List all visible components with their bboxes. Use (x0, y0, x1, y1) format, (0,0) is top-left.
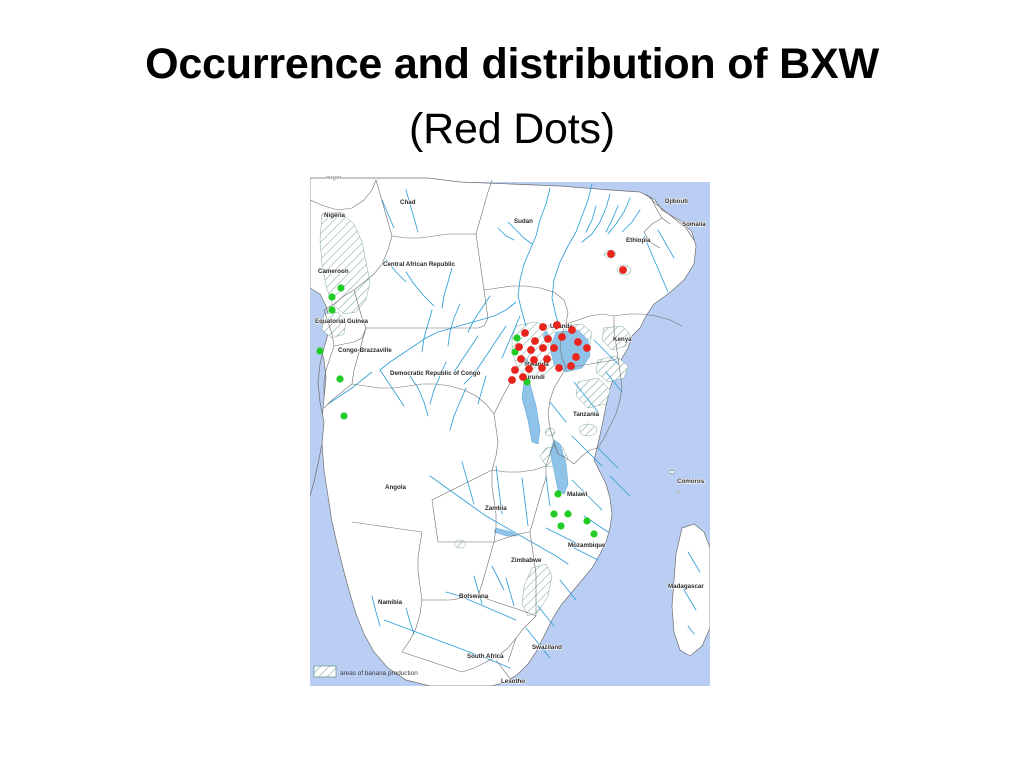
bxw-occurrence-dot (553, 321, 561, 329)
title-line-secondary: (Red Dots) (62, 97, 962, 162)
country-label: Namibia (378, 599, 403, 606)
bxw-occurrence-dot (539, 323, 547, 331)
bxw-occurrence-dot (508, 376, 516, 384)
map-svg: NigerNigeriaChadSudanDjiboutiSomaliaEthi… (310, 176, 710, 686)
country-label: Zimbabwe (511, 557, 542, 564)
bxw-occurrence-dot (527, 346, 535, 354)
country-label: Equatorial Guinea (315, 318, 369, 325)
country-label: Ethiopia (626, 237, 651, 244)
other-dot (557, 522, 564, 529)
country-label: Congo-Brazzaville (338, 347, 392, 354)
bxw-occurrence-dot (511, 366, 519, 374)
country-label: Somalia (682, 221, 706, 228)
bxw-occurrence-dot (544, 335, 552, 343)
bxw-occurrence-dot (558, 333, 566, 341)
bxw-occurrence-dot (538, 364, 546, 372)
other-dot (340, 412, 347, 419)
country-label: Swaziland (532, 644, 562, 651)
bxw-occurrence-dot (583, 344, 591, 352)
bxw-occurrence-dot (568, 326, 576, 334)
bxw-occurrence-dot (543, 355, 551, 363)
bxw-occurrence-dot (531, 337, 539, 345)
country-label: Nigeria (324, 212, 346, 219)
bxw-occurrence-dot (574, 338, 582, 346)
country-label: South Africa (467, 653, 504, 660)
country-label: Central African Republic (383, 261, 456, 268)
title-line-primary: Occurrence and distribution of BXW (62, 32, 962, 97)
other-dot (590, 530, 597, 537)
other-dot (564, 510, 571, 517)
country-label: Mozambique (568, 542, 606, 549)
other-dot (583, 517, 590, 524)
bxw-occurrence-dot (515, 343, 523, 351)
bxw-occurrence-dot (521, 329, 529, 337)
other-dot (316, 347, 323, 354)
other-dot (554, 490, 561, 497)
bxw-occurrence-dot (550, 344, 558, 352)
country-label: Djibouti (665, 198, 688, 205)
africa-distribution-map: NigerNigeriaChadSudanDjiboutiSomaliaEthi… (310, 176, 710, 686)
country-label: Chad (400, 199, 416, 206)
country-label: Niger (326, 176, 342, 181)
country-label: Zambia (485, 505, 507, 512)
bxw-occurrence-dot (555, 364, 563, 372)
bxw-occurrence-dot (619, 266, 627, 274)
country-label: Lesotho (501, 678, 525, 685)
country-label: Kenya (613, 336, 632, 343)
other-dot (336, 375, 343, 382)
other-dot (513, 334, 520, 341)
country-label: Madagascar (668, 583, 704, 590)
country-label: Botswana (459, 593, 489, 600)
country-label: Tanzania (573, 411, 600, 418)
country-label: Cameroon (318, 268, 349, 275)
legend-banana-swatch (314, 666, 336, 677)
country-label: Sudan (514, 218, 533, 225)
bxw-occurrence-dot (519, 373, 527, 381)
bxw-occurrence-dot (607, 250, 615, 258)
bxw-occurrence-dot (525, 365, 533, 373)
other-dot (337, 284, 344, 291)
bxw-occurrence-dot (572, 353, 580, 361)
bxw-occurrence-dot (539, 344, 547, 352)
country-label: Malawi (567, 491, 588, 498)
legend-banana-label: areas of banana production (340, 670, 418, 677)
other-dot (328, 293, 335, 300)
slide-canvas: Occurrence and distribution of BXW (Red … (0, 0, 1024, 768)
page-title: Occurrence and distribution of BXW (Red … (62, 32, 962, 161)
country-label: Angola (385, 484, 407, 491)
bxw-occurrence-dot (517, 355, 525, 363)
country-label: Democratic Republic of Congo (390, 370, 481, 377)
country-label: Comoros (677, 478, 705, 485)
bxw-occurrence-dot (567, 362, 575, 370)
other-dot (550, 510, 557, 517)
other-dot (328, 306, 335, 313)
bxw-occurrence-dot (530, 356, 538, 364)
